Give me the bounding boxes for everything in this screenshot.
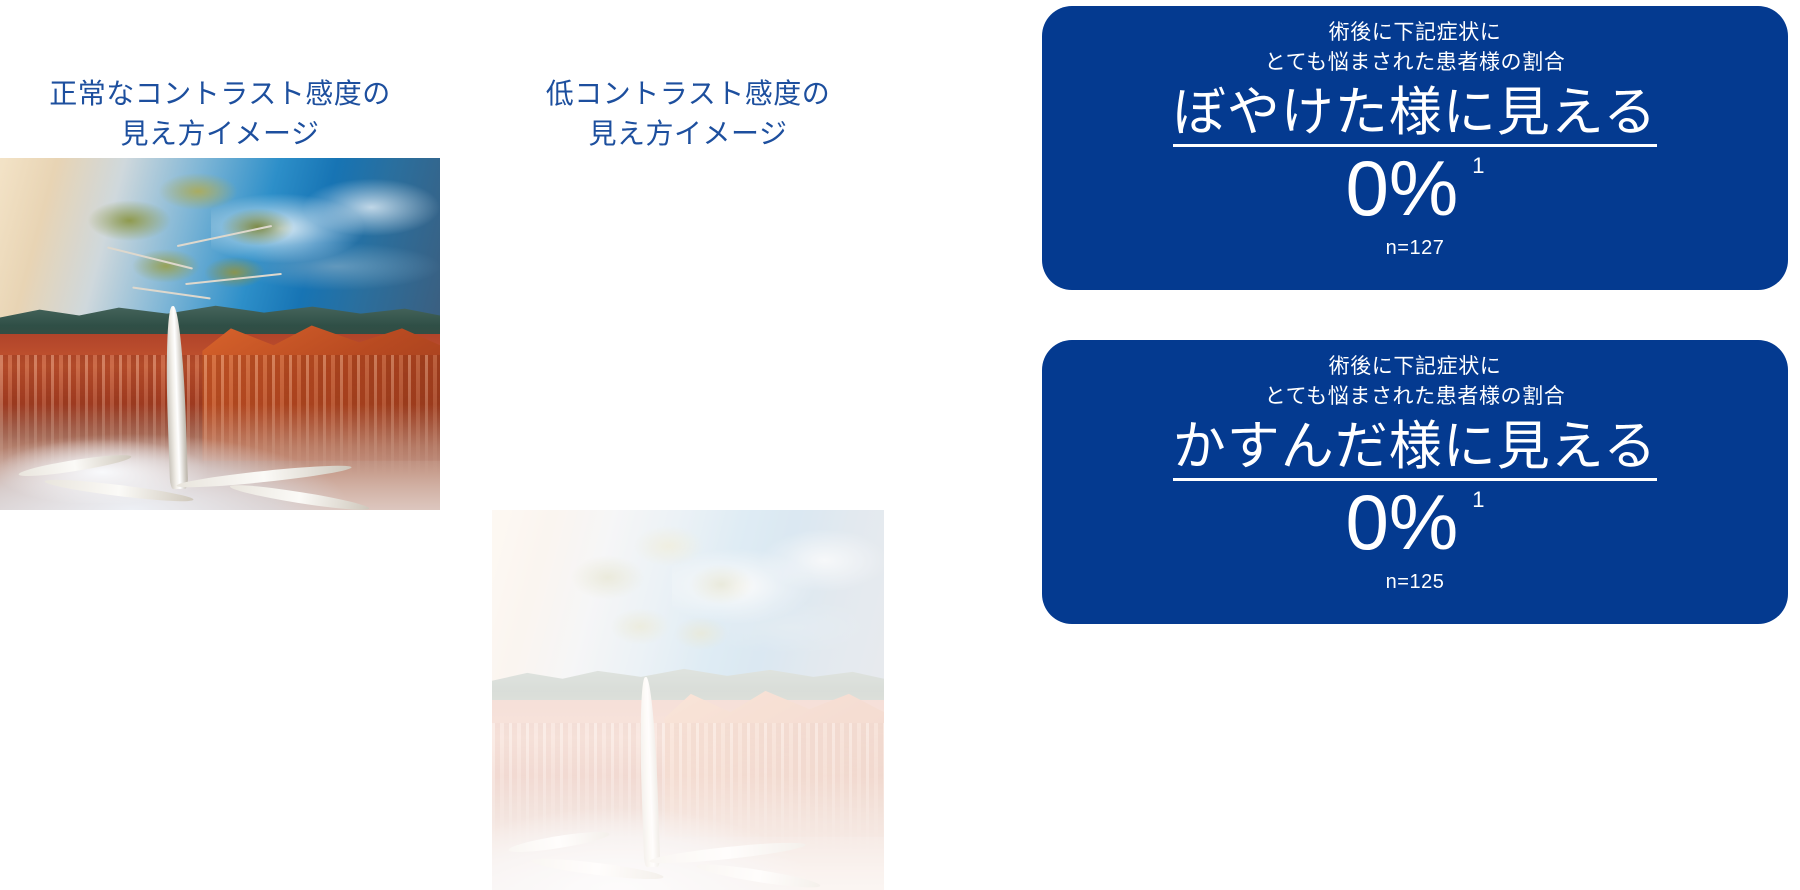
stat-card-value: 0% [1346, 483, 1459, 561]
low-contrast-caption-block: 低コントラスト感度の 見え方イメージ [492, 74, 884, 154]
tree-canopy [79, 172, 308, 334]
stat-card-value: 0% [1346, 149, 1459, 227]
low-contrast-photo [492, 510, 884, 890]
stat-card-sample-size: n=125 [1386, 571, 1445, 594]
stat-card-sample-size: n=127 [1386, 237, 1445, 260]
normal-contrast-caption: 正常なコントラスト感度の 見え方イメージ [0, 74, 440, 154]
stat-card-headline: ぼやけた様に見える [1173, 83, 1657, 147]
stat-card-value-row: 0% 1 [1346, 483, 1485, 561]
tree-canopy [563, 525, 767, 700]
stat-card-lede: 術後に下記症状に とても悩まされた患者様の割合 [1265, 18, 1566, 79]
stat-card-lede: 術後に下記症状に とても悩まされた患者様の割合 [1265, 352, 1566, 413]
normal-contrast-photo [0, 158, 440, 510]
stat-card-headline: かすんだ様に見える [1173, 417, 1657, 481]
snowfield-layer [492, 776, 884, 890]
slide-canvas: 正常なコントラスト感度の 見え方イメージ 低コントラスト感度の 見え方イメージ [0, 0, 1800, 724]
stat-card-value-row: 0% 1 [1346, 149, 1485, 227]
stat-card-footnote-marker: 1 [1472, 489, 1484, 511]
stat-card-hazy-vision: 術後に下記症状に とても悩まされた患者様の割合 かすんだ様に見える 0% 1 n… [1042, 340, 1788, 624]
normal-contrast-caption-block: 正常なコントラスト感度の 見え方イメージ [0, 74, 440, 154]
low-contrast-caption: 低コントラスト感度の 見え方イメージ [492, 74, 884, 154]
stat-card-footnote-marker: 1 [1472, 155, 1484, 177]
stat-card-blurred-vision: 術後に下記症状に とても悩まされた患者様の割合 ぼやけた様に見える 0% 1 n… [1042, 6, 1788, 290]
